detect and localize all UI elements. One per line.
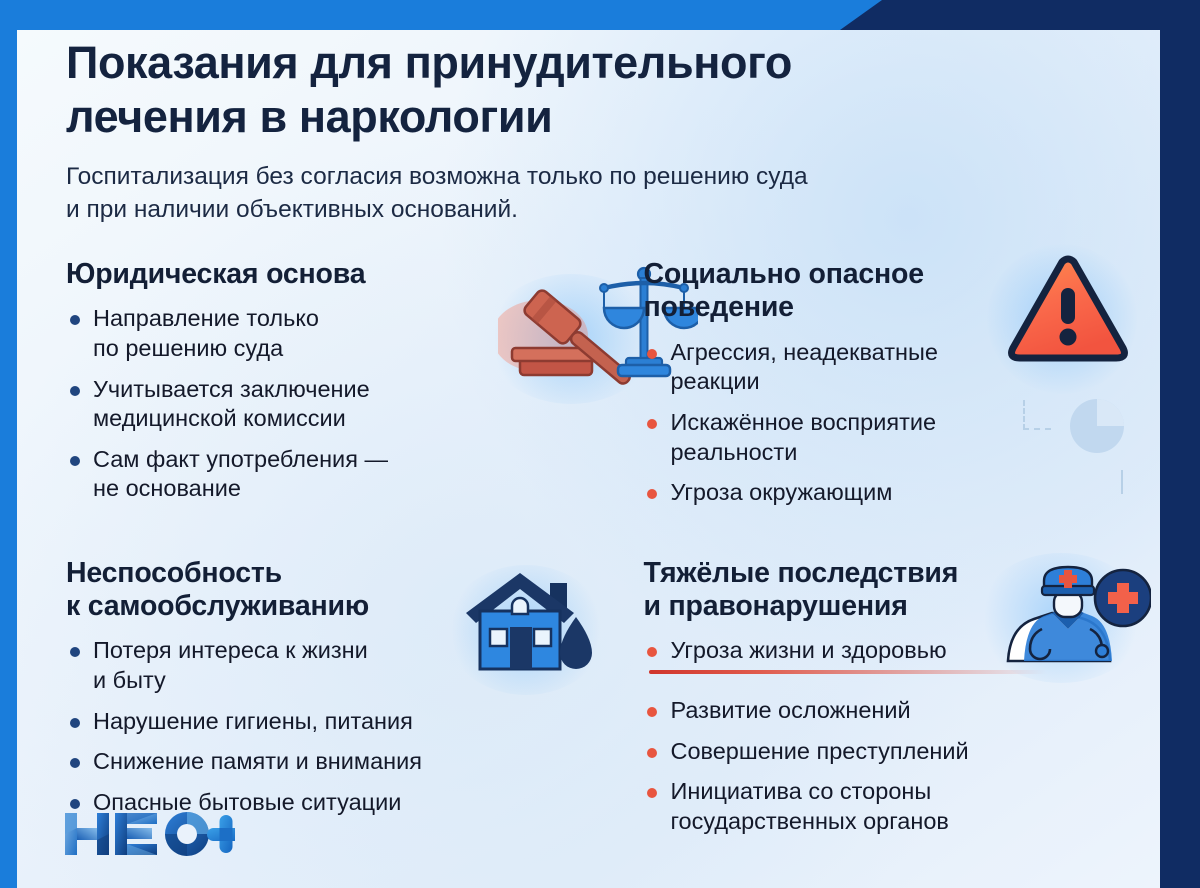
list-item: Инициатива со стороны государственных ор… bbox=[643, 777, 1111, 836]
section-legal-basis: Юридическая основа Направление только по… bbox=[66, 258, 588, 519]
frame-right-accent bbox=[1160, 0, 1200, 888]
section-heading: Юридическая основа bbox=[66, 258, 588, 291]
list-item: Угроза окружающим bbox=[643, 478, 1111, 508]
neo-plus-logo-icon bbox=[63, 809, 235, 859]
section-list-primary: Угроза жизни и здоровью bbox=[643, 636, 1111, 666]
brand-logo bbox=[63, 809, 235, 859]
list-item: Направление только по решению суда bbox=[66, 304, 588, 363]
list-item: Потеря интереса к жизни и быту bbox=[66, 636, 588, 695]
list-item: Учитывается заключение медицинской комис… bbox=[66, 375, 588, 434]
frame-top-diagonal-accent bbox=[840, 0, 1200, 30]
list-item: Развитие осложнений bbox=[643, 696, 1111, 726]
list-item: Снижение памяти и внимания bbox=[66, 747, 588, 777]
list-item: Угроза жизни и здоровью bbox=[643, 636, 1111, 666]
section-list: Агрессия, неадекватные реакции Искажённо… bbox=[643, 338, 1111, 508]
list-item: Искажённое восприятие реальности bbox=[643, 408, 1111, 467]
section-heading: Неспособность к самообслуживанию bbox=[66, 557, 588, 624]
list-item: Нарушение гигиены, питания bbox=[66, 707, 588, 737]
page-subtitle: Госпитализация без согласия возможна тол… bbox=[66, 161, 1066, 226]
decor-tick-icon bbox=[1121, 470, 1123, 494]
list-item: Сам факт употребления — не основание bbox=[66, 445, 588, 504]
header: Показания для принудительного лечения в … bbox=[66, 36, 1066, 226]
section-heading: Тяжёлые последствия и правонарушения bbox=[643, 557, 1111, 624]
infographic-poster: Показания для принудительного лечения в … bbox=[0, 0, 1200, 888]
section-socially-dangerous-behavior: Социально опасное поведение Агрессия, не… bbox=[588, 258, 1111, 519]
section-list: Потеря интереса к жизни и быту Нарушение… bbox=[66, 636, 588, 817]
sections-row-1: Юридическая основа Направление только по… bbox=[66, 258, 1111, 519]
sections-row-2: Неспособность к самообслуживанию Потеря … bbox=[66, 557, 1111, 848]
section-list: Направление только по решению суда Учиты… bbox=[66, 304, 588, 504]
section-list: Развитие осложнений Совершение преступле… bbox=[643, 696, 1111, 836]
section-severe-consequences: Тяжёлые последствия и правонарушения Угр… bbox=[588, 557, 1111, 848]
section-heading: Социально опасное поведение bbox=[643, 258, 1111, 325]
section-self-care-inability: Неспособность к самообслуживанию Потеря … bbox=[66, 557, 588, 848]
frame-top-accent bbox=[0, 0, 900, 30]
list-item: Агрессия, неадекватные реакции bbox=[643, 338, 1111, 397]
poster-card: Показания для принудительного лечения в … bbox=[17, 30, 1160, 888]
list-item: Совершение преступлений bbox=[643, 737, 1111, 767]
sections-grid: Юридическая основа Направление только по… bbox=[66, 258, 1111, 847]
frame-left-accent bbox=[0, 0, 17, 888]
page-title: Показания для принудительного лечения в … bbox=[66, 36, 1066, 144]
